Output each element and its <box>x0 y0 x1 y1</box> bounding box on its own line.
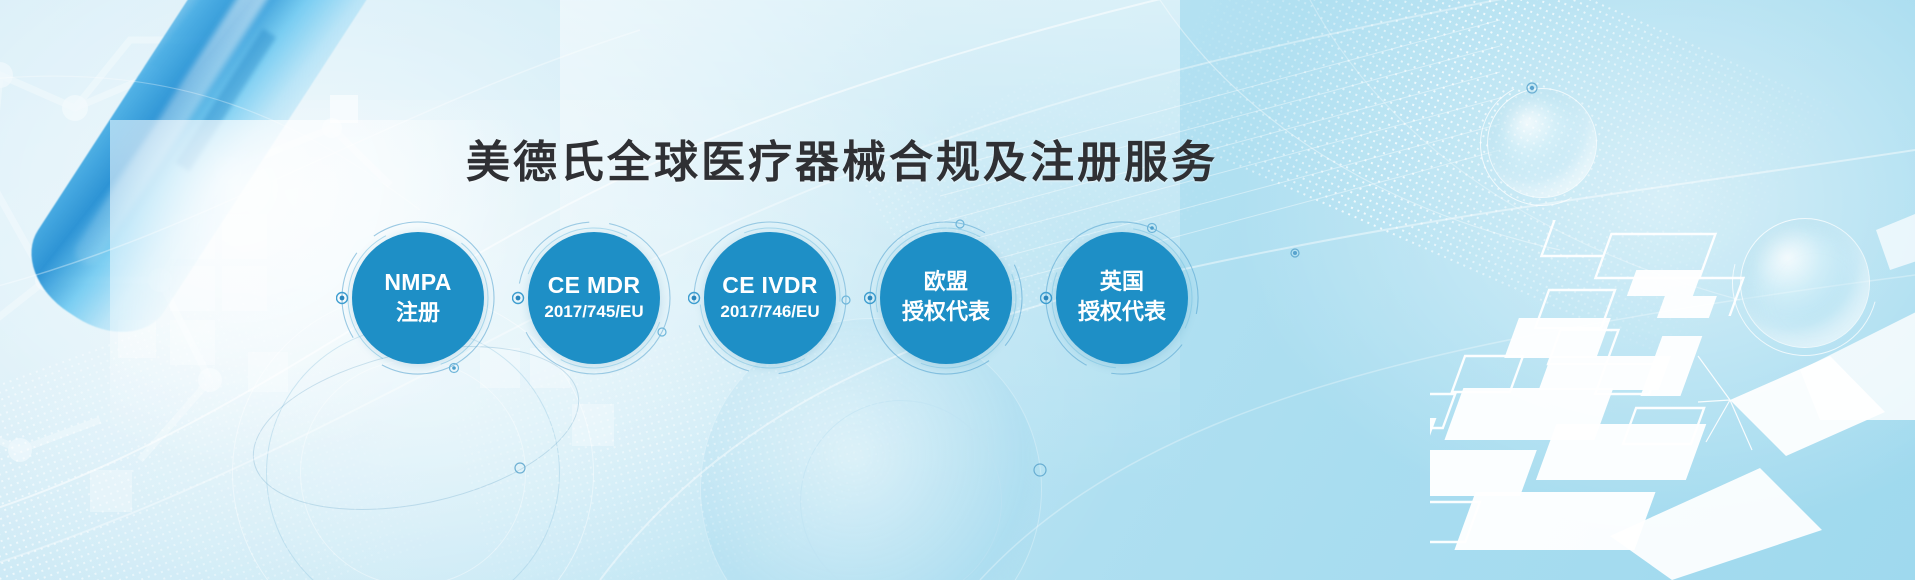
badge-ce-ivdr[interactable]: CE IVDR 2017/746/EU <box>704 232 836 364</box>
sphere-arc <box>1705 183 1904 382</box>
decor-square <box>330 95 358 123</box>
halftone-dots <box>1147 0 1854 387</box>
badge-disc: CE IVDR 2017/746/EU <box>704 232 836 364</box>
decor-square <box>118 320 156 358</box>
badge-subtitle: 注册 <box>396 300 440 326</box>
badge-nmpa[interactable]: NMPA 注册 <box>352 232 484 364</box>
badge-title: CE MDR <box>548 273 641 299</box>
decor-square <box>222 266 267 311</box>
page-title: 美德氏全球医疗器械合规及注册服务 <box>466 126 1218 190</box>
vial-highlight <box>70 0 348 269</box>
badge-disc: NMPA 注册 <box>352 232 484 364</box>
decor-square <box>90 470 132 512</box>
decor-square <box>170 266 215 311</box>
decor-square <box>170 320 215 365</box>
badge-subtitle: 2017/746/EU <box>720 302 819 322</box>
concentric-circle <box>300 360 526 580</box>
badge-ce-mdr[interactable]: CE MDR 2017/745/EU <box>528 232 660 364</box>
angular-shard-decoration <box>1780 120 1915 420</box>
hero-banner: 美德氏全球医疗器械合规及注册服务 NMPA 注册 <box>0 0 1915 580</box>
decor-square <box>86 227 124 265</box>
concentric-circle <box>800 400 1002 580</box>
decor-square <box>248 352 288 392</box>
glossy-sphere <box>1740 218 1870 348</box>
badge-disc: 英国 授权代表 <box>1056 232 1188 364</box>
glossy-sphere <box>1487 88 1597 198</box>
decor-square <box>170 214 215 259</box>
sphere-arc <box>1464 66 1620 222</box>
circuit-board-decoration-icon <box>1430 150 1915 580</box>
badge-eu-authorised-representative[interactable]: 欧盟 授权代表 <box>880 232 1012 364</box>
badge-title: 欧盟 <box>924 270 969 295</box>
decor-square <box>222 214 267 259</box>
vial-band <box>176 29 277 172</box>
badge-disc: 欧盟 授权代表 <box>880 232 1012 364</box>
light-wash-right <box>1215 0 1915 550</box>
badge-subtitle: 授权代表 <box>902 299 990 325</box>
badge-uk-authorised-representative[interactable]: 英国 授权代表 <box>1056 232 1188 364</box>
badge-title: NMPA <box>384 270 451 296</box>
service-badge-row: NMPA 注册 CE MDR 2017/745/EU <box>352 232 1252 392</box>
decor-square <box>572 404 614 446</box>
badge-title: CE IVDR <box>722 273 817 299</box>
badge-subtitle: 2017/745/EU <box>544 302 643 322</box>
badge-title: 英国 <box>1100 270 1145 295</box>
badge-subtitle: 授权代表 <box>1078 299 1166 325</box>
badge-disc: CE MDR 2017/745/EU <box>528 232 660 364</box>
